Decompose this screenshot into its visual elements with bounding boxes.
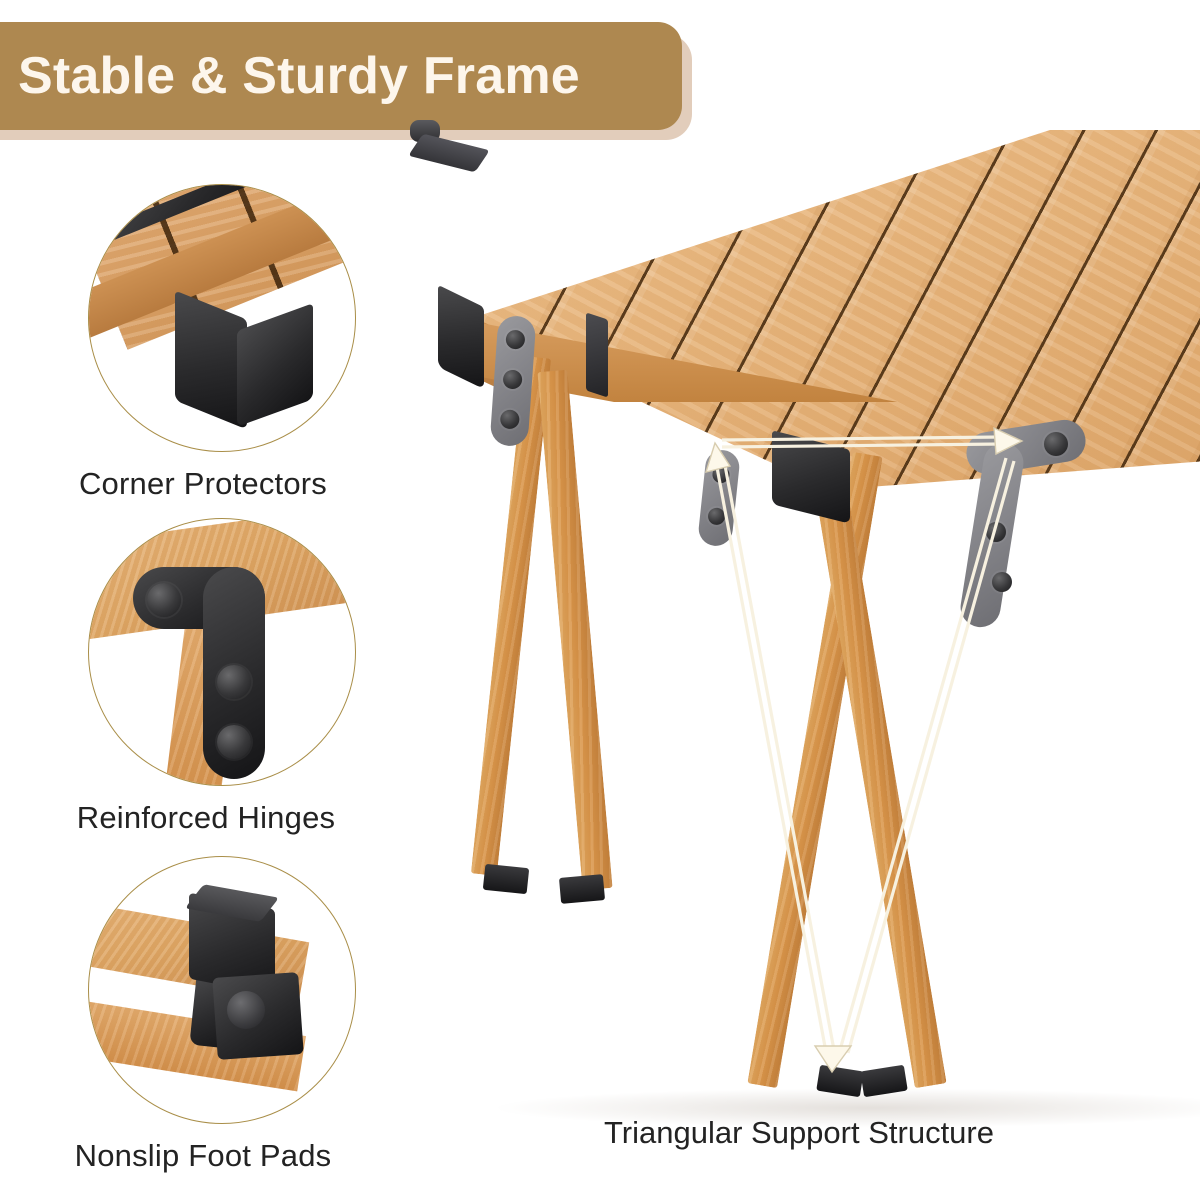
corner-protector-top-face bbox=[408, 134, 490, 173]
slat-lock-clip bbox=[586, 312, 608, 397]
hinge-bracket bbox=[966, 426, 1086, 626]
rivet-icon bbox=[217, 665, 251, 699]
rivet-icon bbox=[505, 329, 525, 349]
infographic-canvas: Stable & Sturdy Frame Corner Protectors bbox=[0, 0, 1200, 1200]
table-leg bbox=[537, 370, 612, 891]
page-title: Stable & Sturdy Frame bbox=[0, 46, 580, 106]
product-photo-folding-table bbox=[410, 120, 1200, 1130]
corner-protector bbox=[438, 285, 484, 389]
rivet-icon bbox=[712, 465, 731, 484]
rivet-icon bbox=[707, 507, 726, 526]
callout-label-corner-protectors: Corner Protectors bbox=[52, 466, 354, 502]
rivet-icon bbox=[500, 409, 520, 429]
rivet-icon bbox=[1044, 432, 1068, 456]
rivet-icon bbox=[992, 572, 1012, 592]
callout-corner-protectors: Corner Protectors bbox=[88, 184, 354, 502]
callout-image-corner-protectors bbox=[88, 184, 356, 452]
rivet-icon bbox=[986, 522, 1006, 542]
callout-label-reinforced-hinges: Reinforced Hinges bbox=[58, 800, 354, 836]
hinge-bracket bbox=[697, 448, 741, 547]
nonslip-foot-pad bbox=[559, 874, 605, 904]
callout-nonslip-foot-pads: Nonslip Foot Pads bbox=[88, 856, 354, 1174]
banner-plate: Stable & Sturdy Frame bbox=[0, 22, 682, 130]
callout-image-nonslip-foot-pads bbox=[88, 856, 356, 1124]
product-label-triangular-support: Triangular Support Structure bbox=[604, 1115, 994, 1151]
callout-reinforced-hinges: Reinforced Hinges bbox=[88, 518, 354, 836]
rivet-icon bbox=[217, 725, 251, 759]
callout-image-reinforced-hinges bbox=[88, 518, 356, 786]
callout-label-nonslip-foot-pads: Nonslip Foot Pads bbox=[52, 1138, 354, 1174]
rivet-icon bbox=[147, 583, 181, 617]
corner-protector-side-icon bbox=[237, 303, 313, 427]
rivet-icon bbox=[502, 369, 522, 389]
nonslip-foot-pad bbox=[483, 864, 529, 894]
hinge-bracket-icon bbox=[133, 567, 265, 779]
foot-pivot-knob-icon bbox=[227, 991, 265, 1029]
